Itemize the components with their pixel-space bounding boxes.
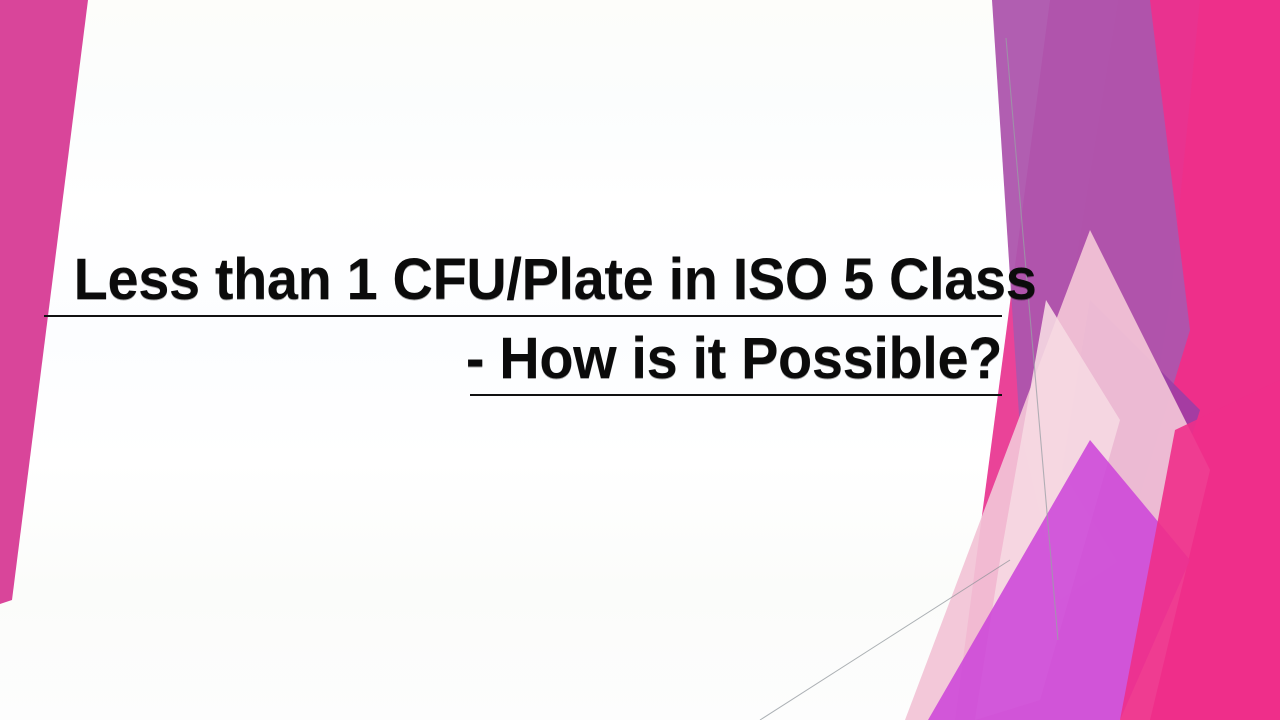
title-line-1: Less than 1 CFU/Plate in ISO 5 Class [74,247,1002,313]
slide-title: Less than 1 CFU/Plate in ISO 5 Class Les… [40,247,1002,402]
title-line-2-underline [470,394,1002,396]
title-line-2-wrap: - How is it Possible? - How is it Possib… [40,326,1002,402]
presentation-slide: Less than 1 CFU/Plate in ISO 5 Class Les… [0,0,1280,720]
title-line-2: - How is it Possible? [74,326,1002,392]
title-line-1-underline [44,315,1002,317]
title-line-1-wrap: Less than 1 CFU/Plate in ISO 5 Class Les… [40,247,1002,323]
